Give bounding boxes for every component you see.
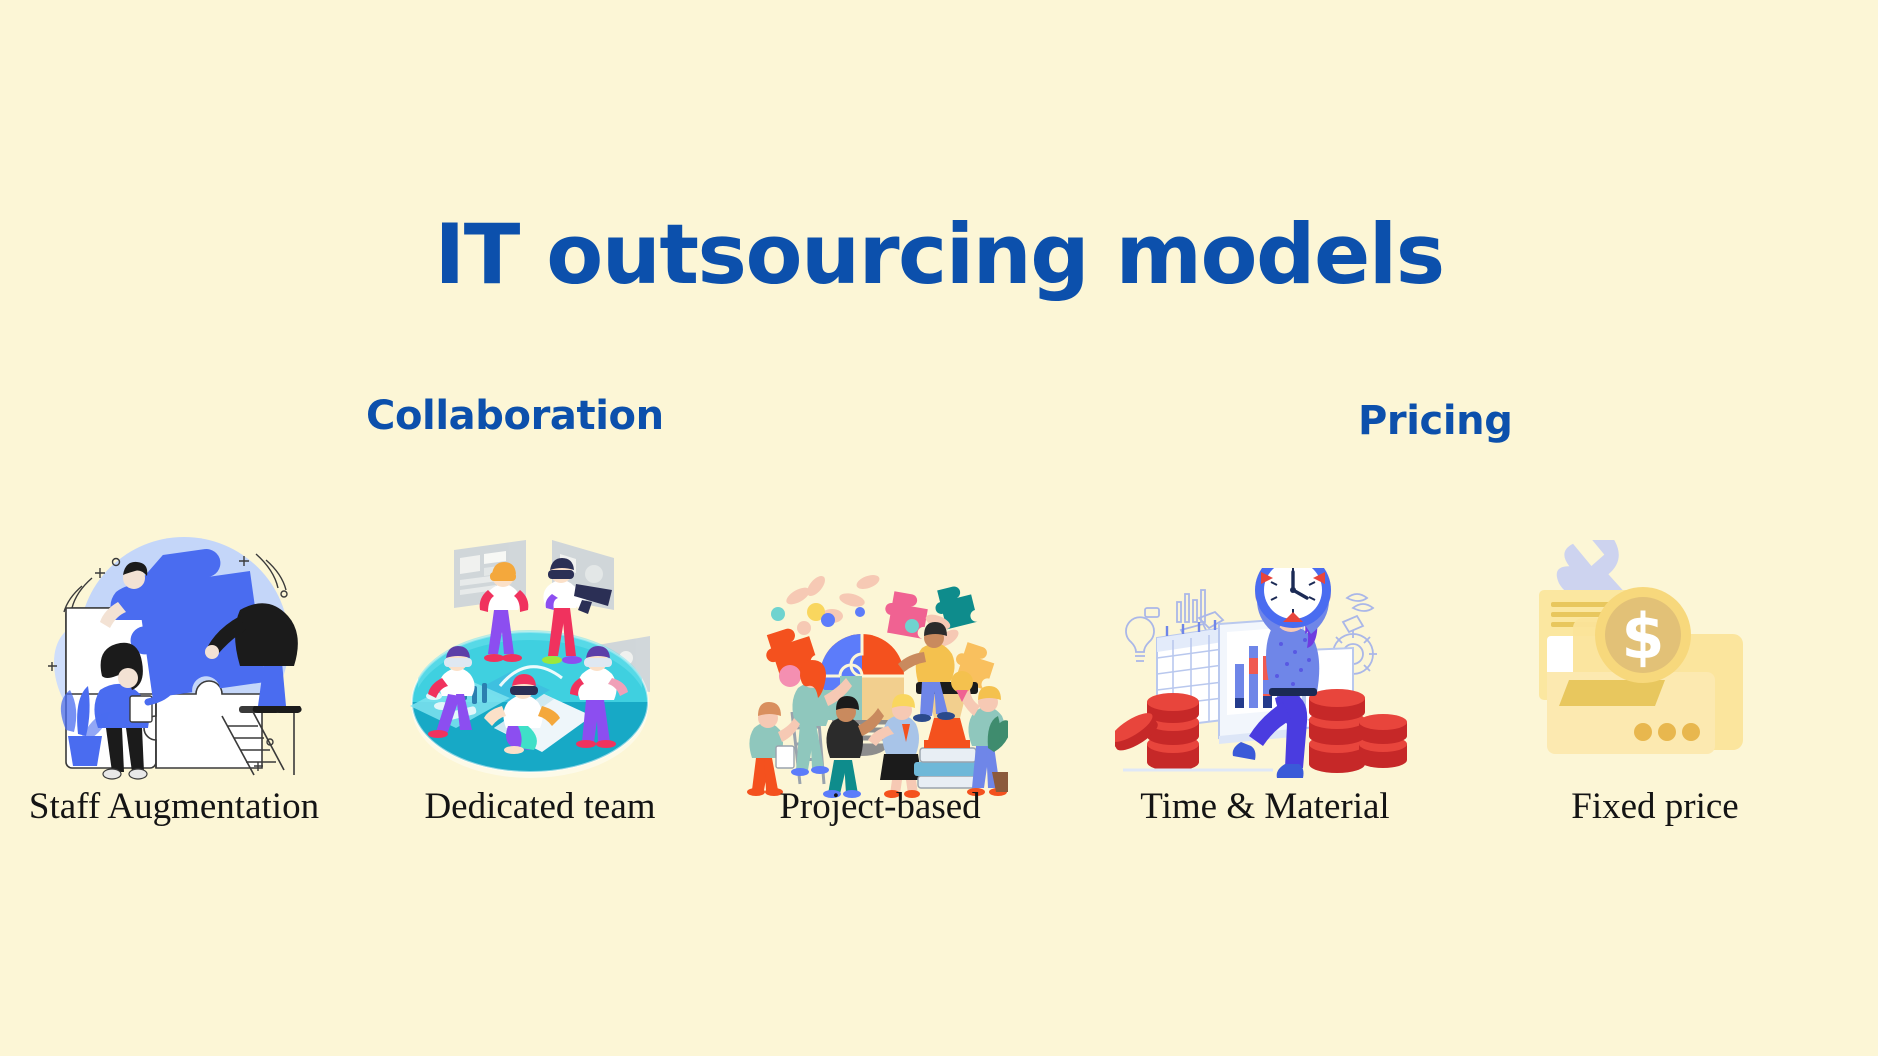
model-card-row: Staff Augmentation	[0, 530, 1878, 870]
svg-text:$: $	[1621, 600, 1664, 673]
group-heading-collaboration: Collaboration	[366, 393, 664, 439]
page-title: IT outsourcing models	[0, 211, 1878, 298]
model-card-dedicated-team[interactable]: Dedicated team	[390, 530, 690, 860]
clock-calendar-coins-illustration	[1115, 568, 1407, 782]
puzzle-lightbulb-illustration	[742, 572, 1008, 798]
card-caption: Project-based	[710, 785, 1050, 828]
model-card-fixed-price[interactable]: $ Fixed price	[1505, 530, 1805, 860]
card-caption: Staff Augmentation	[4, 785, 344, 828]
slide-root: IT outsourcing models Collaboration Pric…	[0, 0, 1878, 1056]
card-caption: Fixed price	[1485, 785, 1825, 828]
folder-dollar-wrench-illustration: $	[1525, 540, 1757, 764]
model-card-project-based[interactable]: Project-based	[730, 530, 1030, 860]
model-card-staff-augmentation[interactable]: Staff Augmentation	[24, 530, 324, 860]
group-heading-pricing: Pricing	[1358, 398, 1513, 444]
vr-team-platform-illustration	[402, 538, 658, 788]
model-card-time-material[interactable]: Time & Material	[1115, 530, 1415, 860]
card-caption: Dedicated team	[370, 785, 710, 828]
card-caption: Time & Material	[1095, 785, 1435, 828]
puzzle-people-illustration	[44, 530, 310, 785]
